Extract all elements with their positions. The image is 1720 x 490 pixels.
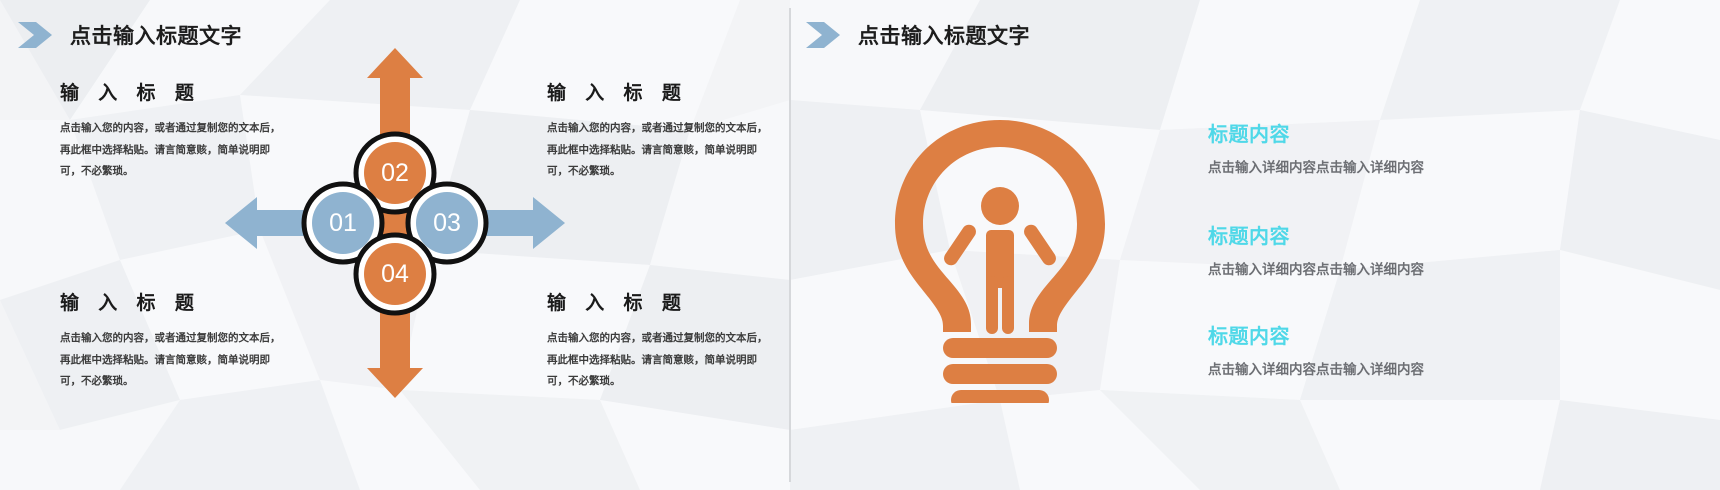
slide-panel-left: 点击输入标题文字 输 入 标 题 点击输入您的内容，或者通过复制您的文本后，再此… (0, 0, 790, 490)
text-block-title: 输 入 标 题 (547, 78, 777, 105)
text-block-top-right: 输 入 标 题 点击输入您的内容，或者通过复制您的文本后，再此框中选择粘贴。请言… (547, 78, 777, 183)
node-label: 04 (381, 260, 409, 288)
slide-header-left: 点击输入标题文字 (18, 20, 242, 50)
node-label: 01 (329, 209, 357, 237)
content-item-title: 标题内容 (1208, 118, 1528, 147)
content-item-description: 点击输入详细内容点击输入详细内容 (1208, 258, 1528, 278)
page-title-left: 点击输入标题文字 (70, 20, 242, 50)
lightbulb-with-person-icon (885, 118, 1115, 403)
node-label: 03 (433, 209, 461, 237)
content-item-description: 点击输入详细内容点击输入详细内容 (1208, 156, 1528, 176)
page-title-right: 点击输入标题文字 (858, 20, 1030, 50)
content-item-description: 点击输入详细内容点击输入详细内容 (1208, 358, 1528, 378)
content-item-title: 标题内容 (1208, 220, 1528, 249)
text-block-title: 输 入 标 题 (547, 288, 777, 315)
node-04[interactable]: 04 (356, 235, 434, 313)
node-label: 02 (381, 159, 409, 187)
cross-arrow-diagram: 02 01 03 04 (225, 48, 565, 398)
content-item-3: 标题内容 点击输入详细内容点击输入详细内容 (1208, 320, 1528, 378)
content-item-2: 标题内容 点击输入详细内容点击输入详细内容 (1208, 220, 1528, 278)
text-block-body: 点击输入您的内容，或者通过复制您的文本后，再此框中选择粘贴。请言简意赅，简单说明… (547, 328, 777, 393)
text-block-bottom-right: 输 入 标 题 点击输入您的内容，或者通过复制您的文本后，再此框中选择粘贴。请言… (547, 288, 777, 393)
chevron-right-icon (806, 20, 844, 50)
content-item-title: 标题内容 (1208, 320, 1528, 349)
content-item-1: 标题内容 点击输入详细内容点击输入详细内容 (1208, 118, 1528, 176)
slide-canvas: 点击输入标题文字 输 入 标 题 点击输入您的内容，或者通过复制您的文本后，再此… (0, 0, 1720, 490)
text-block-body: 点击输入您的内容，或者通过复制您的文本后，再此框中选择粘贴。请言简意赅，简单说明… (547, 118, 777, 183)
slide-header-right: 点击输入标题文字 (806, 20, 1030, 50)
slide-panel-right: 点击输入标题文字 (790, 0, 1720, 490)
chevron-right-icon (18, 20, 56, 50)
